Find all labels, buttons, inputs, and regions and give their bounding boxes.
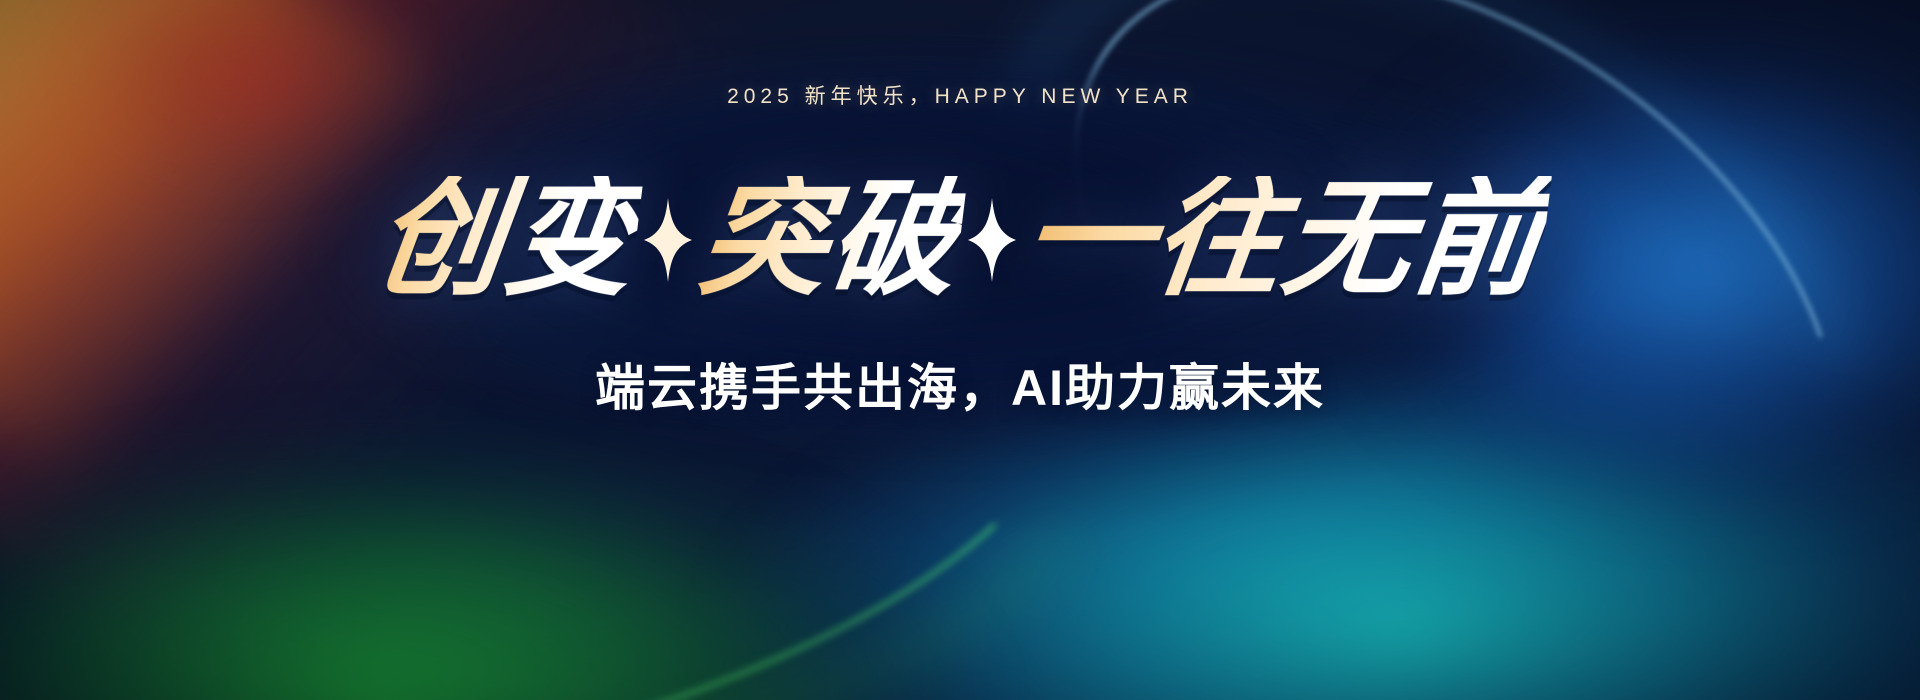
headline: 创变 突破 一往无前	[376, 176, 1544, 304]
sparkle-4point-icon-2	[966, 194, 1018, 286]
headline-segment-1: 创变	[368, 176, 644, 304]
tagline: 2025 新年快乐，HAPPY NEW YEAR	[727, 80, 1193, 110]
subtitle: 端云携手共出海，AI助力赢未来	[595, 348, 1325, 420]
headline-segment-3: 一往无前	[1016, 176, 1552, 304]
banner-content: 2025 新年快乐，HAPPY NEW YEAR 创变 突破 一往无前 端云携手…	[0, 0, 1920, 700]
new-year-banner: 2025 新年快乐，HAPPY NEW YEAR 创变 突破 一往无前 端云携手…	[0, 0, 1920, 700]
headline-segment-2: 突破	[692, 176, 968, 304]
sparkle-4point-icon	[642, 194, 694, 286]
